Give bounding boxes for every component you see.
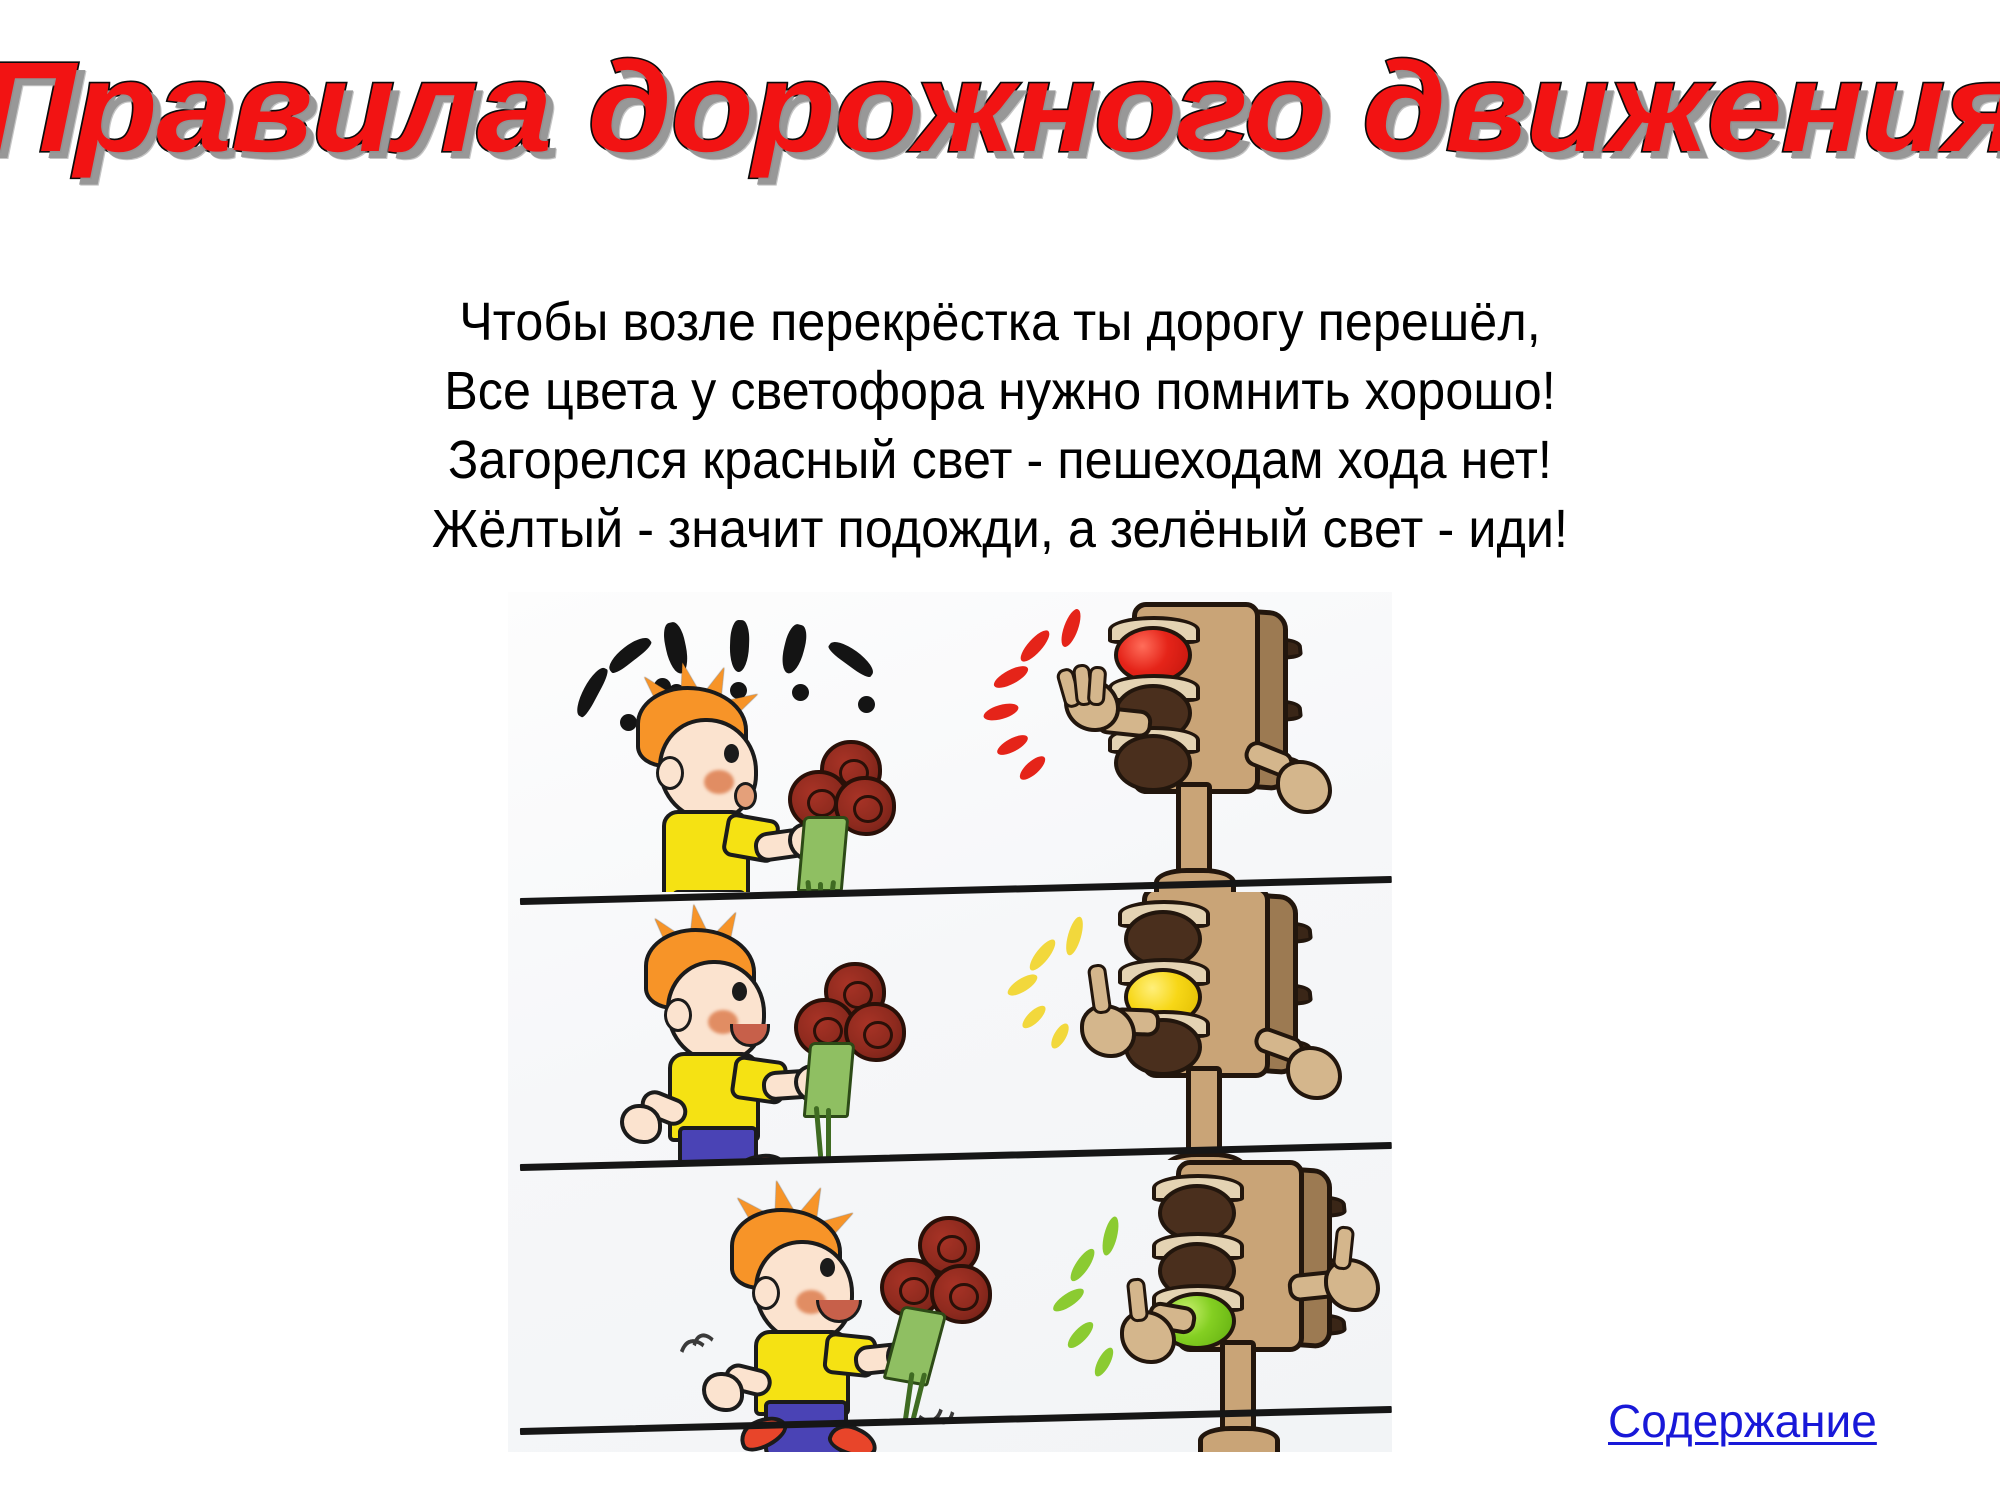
hand-left [620, 1104, 662, 1144]
page-title: Правила дорожного движения [0, 36, 2000, 179]
comic-panel-green [508, 1160, 1392, 1452]
pants [678, 1126, 758, 1160]
traffic-light-character-yellow [1104, 892, 1354, 1160]
rose-bouquet [786, 740, 916, 892]
stem [826, 1108, 831, 1160]
traffic-light-character-red [1094, 596, 1344, 892]
eye [732, 982, 747, 1001]
bouquet-wrap [803, 1042, 856, 1118]
wordart-title-text: Правила дорожного движения [0, 36, 2000, 179]
thumb-up [1126, 1277, 1149, 1323]
poem-line-1: Чтобы возле перекрёстка ты дорогу перешё… [70, 288, 1930, 357]
slide-canvas: Правила дорожного движения Чтобы возле п… [0, 0, 2000, 1500]
traffic-light-comic-illustration [508, 592, 1392, 1452]
ear [656, 756, 684, 790]
bouquet-wrap [797, 816, 850, 892]
eye [724, 744, 739, 763]
traffic-light-foot [1198, 1426, 1280, 1452]
poem-line-4: Жёлтый - значит подожди, а зелёный свет … [70, 495, 1930, 564]
thumb-up-hand-right-icon [1324, 1258, 1380, 1312]
hand-right [1286, 1046, 1342, 1100]
poem-line-2: Все цвета у светофора нужно помнить хоро… [70, 357, 1930, 426]
eye [820, 1258, 835, 1277]
comic-panel-red [508, 592, 1392, 892]
ear [752, 1276, 780, 1310]
mouth-open [734, 782, 757, 810]
comic-panel-yellow [508, 892, 1392, 1160]
finger [1087, 665, 1108, 706]
rose-bouquet [794, 962, 924, 1132]
cheek-blush [704, 770, 734, 794]
poem-block: Чтобы возле перекрёстка ты дорогу перешё… [0, 288, 2000, 564]
contents-link[interactable]: Содержание [1608, 1394, 1877, 1448]
hand-right [1276, 760, 1332, 814]
ear [664, 998, 692, 1032]
poem-line-3: Загорелся красный свет - пешеходам хода … [70, 426, 1930, 495]
